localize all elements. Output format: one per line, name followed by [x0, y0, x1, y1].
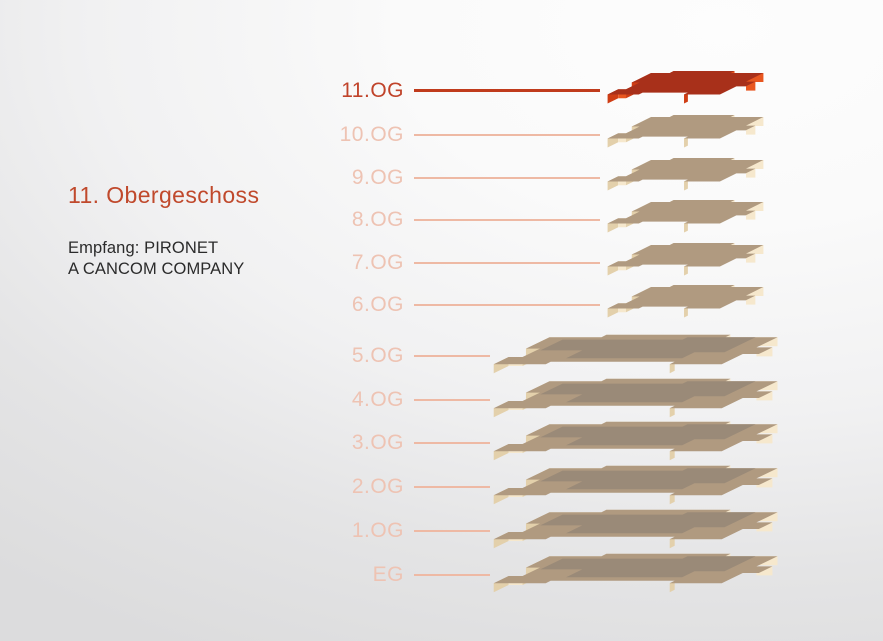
floor-row[interactable]: EG [0, 562, 883, 588]
floor-row[interactable]: 6.OG [0, 292, 883, 318]
floor-row[interactable]: 11.OG [0, 78, 883, 104]
floor-row[interactable]: 7.OG [0, 250, 883, 276]
floor-label-4og[interactable]: 4.OG [330, 387, 404, 413]
floor-leader-line [414, 89, 600, 92]
floor-label-5og[interactable]: 5.OG [330, 343, 404, 369]
floor-row[interactable]: 5.OG [0, 343, 883, 369]
floor-label-3og[interactable]: 3.OG [330, 430, 404, 456]
floor-leader-line [414, 134, 600, 136]
floor-label-7og[interactable]: 7.OG [330, 250, 404, 276]
floor-label-2og[interactable]: 2.OG [330, 474, 404, 500]
floor-label-1og[interactable]: 1.OG [330, 518, 404, 544]
floor-label-10og[interactable]: 10.OG [330, 122, 404, 148]
floor-row[interactable]: 2.OG [0, 474, 883, 500]
floor-label-11og[interactable]: 11.OG [330, 78, 404, 104]
floor-label-6og[interactable]: 6.OG [330, 292, 404, 318]
building-floor-selector: 11. Obergeschoss Empfang: PIRONET A CANC… [0, 0, 883, 641]
floor-label-9og[interactable]: 9.OG [330, 165, 404, 191]
floor-row[interactable]: 8.OG [0, 207, 883, 233]
floor-row[interactable]: 3.OG [0, 430, 883, 456]
floor-leader-line [414, 574, 490, 576]
floor-leader-line [414, 399, 490, 401]
floor-leader-line [414, 355, 490, 357]
floor-label-8og[interactable]: 8.OG [330, 207, 404, 233]
floor-label-eg[interactable]: EG [330, 562, 404, 588]
floor-leader-line [414, 442, 490, 444]
floor-leader-line [414, 530, 490, 532]
floor-leader-line [414, 177, 600, 179]
floor-leader-line [414, 262, 600, 264]
floor-row[interactable]: 4.OG [0, 387, 883, 413]
floor-leader-line [414, 486, 490, 488]
floor-leader-line [414, 219, 600, 221]
floor-row[interactable]: 9.OG [0, 165, 883, 191]
floor-leader-line [414, 304, 600, 306]
floor-row[interactable]: 1.OG [0, 518, 883, 544]
floor-row[interactable]: 10.OG [0, 122, 883, 148]
